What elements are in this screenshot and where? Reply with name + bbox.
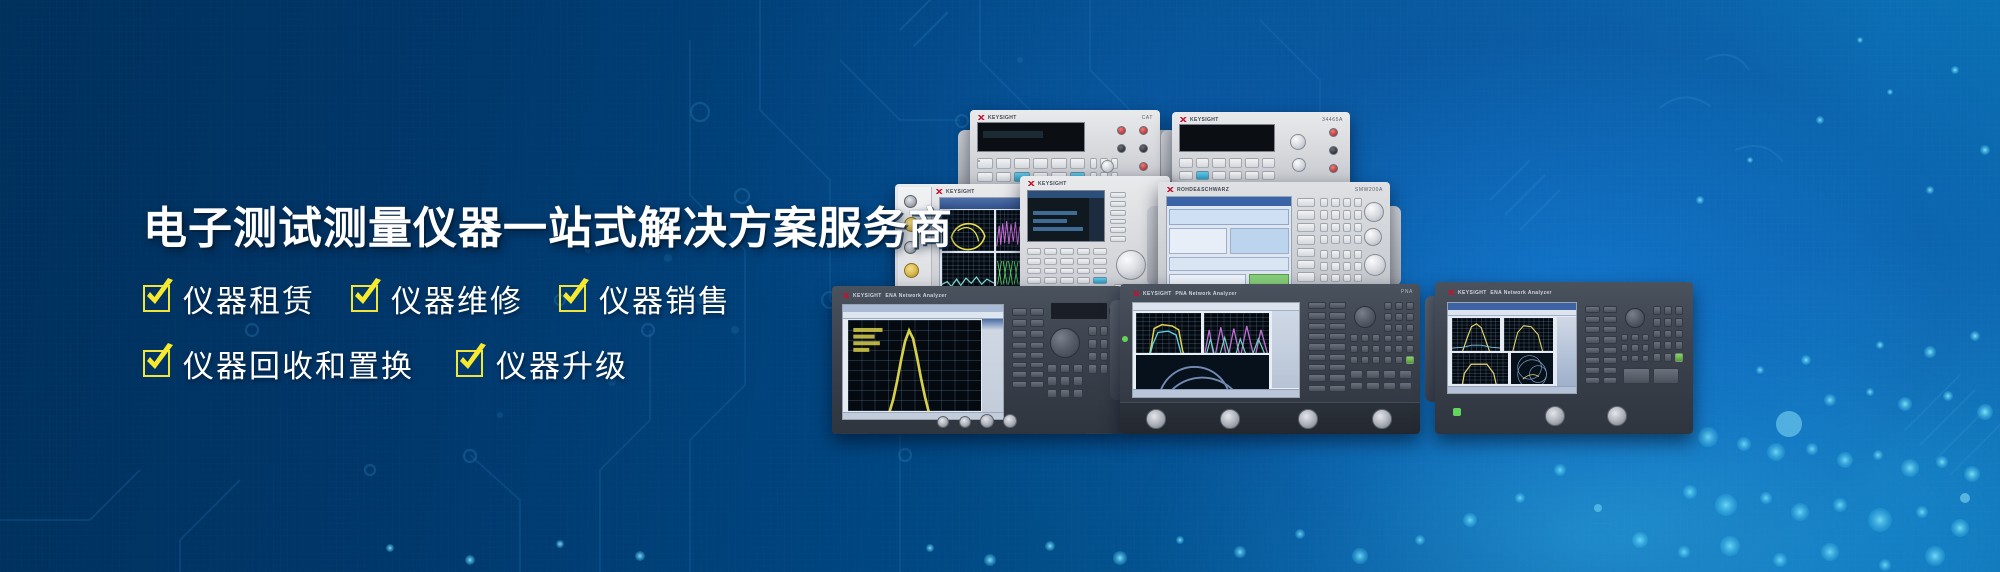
navigation-wheel	[1050, 328, 1080, 358]
numeric-keypad	[1384, 302, 1414, 364]
instrument-chassis: KEYSIGHT ENA Network Analyzer	[1435, 282, 1693, 434]
input-terminal	[1139, 162, 1148, 171]
instrument-display	[977, 122, 1085, 152]
test-port-4	[1003, 414, 1017, 428]
instrument-network-analyzer-pna-center: KEYSIGHT PNA Network Analyzer PNA	[1120, 284, 1420, 434]
feature-label: 仪器销售	[599, 276, 731, 321]
instrument-cluster: KEYSIGHT CAT	[820, 96, 2000, 516]
feature-item-instrument-sales[interactable]: 仪器销售	[559, 276, 731, 321]
utility-keypad	[1350, 370, 1412, 390]
model-label: SMW200A	[1355, 187, 1383, 193]
rotary-knob	[1116, 250, 1146, 280]
arrow-keypad	[1350, 334, 1380, 364]
instrument-digital-multimeter-right: KEYSIGHT 34465A	[1172, 112, 1350, 186]
promo-banner: KEYSIGHT CAT	[0, 0, 2000, 572]
rohde-schwarz-logo: ROHDE&SCHWARZ	[1166, 187, 1229, 193]
keysight-logo: KEYSIGHT	[1179, 117, 1219, 123]
input-terminal	[1329, 164, 1338, 173]
front-knob	[1290, 134, 1306, 150]
front-knob	[1101, 160, 1114, 173]
feature-label: 仪器回收和置换	[183, 341, 414, 386]
input-terminal	[1139, 144, 1148, 153]
instrument-chassis: KEYSIGHT 34465A	[1172, 112, 1350, 186]
arrow-keypad	[1047, 364, 1083, 398]
check-mark-icon	[142, 342, 176, 376]
arrow-keypad	[1621, 334, 1649, 362]
instrument-keypad	[1179, 158, 1275, 180]
front-knob	[1292, 158, 1306, 172]
check-mark-icon	[558, 277, 592, 311]
feature-list: 仪器租赁 仪器维修 仪器销售	[143, 276, 923, 386]
navigation-wheel	[1625, 308, 1645, 328]
input-terminal	[1329, 128, 1338, 137]
model-label: PNA	[1401, 289, 1413, 295]
port-panel	[1120, 402, 1420, 434]
trace-plot-a	[1136, 313, 1201, 352]
softkey-column	[1297, 198, 1315, 294]
feature-item-instrument-recycle-exchange[interactable]: 仪器回收和置换	[143, 341, 414, 386]
navigation-wheel	[1354, 306, 1376, 328]
numeric-keypad	[1653, 306, 1683, 362]
test-port-4	[1298, 409, 1318, 429]
keysight-logo: KEYSIGHT	[1027, 181, 1067, 187]
usb-keypad	[1623, 368, 1679, 384]
checkbox-checked-icon	[456, 350, 483, 377]
rotary-knob	[1364, 202, 1384, 222]
trace-plot-b	[1504, 318, 1553, 350]
keysight-logo: KEYSIGHT	[935, 189, 975, 195]
keysight-logo: KEYSIGHT	[977, 115, 1017, 121]
instrument-chassis: KEYSIGHT PNA Network Analyzer PNA	[1120, 284, 1420, 434]
test-port-3	[980, 414, 994, 428]
model-label: CAT	[1142, 115, 1153, 121]
test-port-2	[1607, 406, 1627, 426]
feature-label: 仪器租赁	[183, 276, 315, 321]
page-title: 电子测试测量仪器一站式解决方案服务商	[143, 203, 923, 254]
instrument-display	[1027, 190, 1105, 242]
test-port-1	[1146, 409, 1166, 429]
checkbox-checked-icon	[559, 285, 586, 312]
feature-row-1: 仪器租赁 仪器维修 仪器销售	[143, 276, 923, 321]
check-mark-icon	[142, 277, 176, 311]
test-port-2	[1372, 409, 1392, 429]
status-display	[1050, 302, 1108, 320]
checkbox-checked-icon	[351, 285, 378, 312]
test-port-2	[959, 416, 971, 428]
navigation-wheel	[1364, 254, 1386, 276]
power-led	[1122, 336, 1128, 342]
power-led	[1453, 408, 1461, 416]
test-port-3	[1220, 409, 1240, 429]
trace-plot-a	[1452, 318, 1501, 350]
function-keypad	[1012, 342, 1044, 388]
smith-chart	[1136, 355, 1269, 391]
banner-copy: 电子测试测量仪器一站式解决方案服务商 仪器租赁	[143, 203, 923, 386]
function-keypad	[1308, 302, 1346, 392]
trace-plot-c	[1452, 353, 1508, 384]
chassis-foot	[842, 433, 868, 434]
feature-item-instrument-rental[interactable]: 仪器租赁	[143, 276, 315, 321]
test-port-1	[937, 416, 949, 428]
feature-row-2: 仪器回收和置换 仪器升级	[143, 341, 923, 386]
feature-item-instrument-upgrade[interactable]: 仪器升级	[456, 341, 628, 386]
test-port-1	[1545, 406, 1565, 426]
check-mark-icon	[350, 277, 384, 311]
instrument-display	[1132, 302, 1300, 398]
feature-item-instrument-repair[interactable]: 仪器维修	[351, 276, 523, 321]
channel-keypad	[1012, 308, 1044, 338]
power-knob	[978, 160, 980, 162]
instrument-display	[1166, 196, 1292, 298]
model-label: 34465A	[1322, 117, 1343, 123]
instrument-network-analyzer-ena-right: KEYSIGHT ENA Network Analyzer	[1435, 282, 1693, 434]
chassis-foot	[1086, 433, 1112, 434]
feature-label: 仪器升级	[496, 341, 628, 386]
input-terminal	[1139, 126, 1148, 135]
softkey-column	[1110, 192, 1126, 242]
keysight-logo: KEYSIGHT PNA Network Analyzer	[1132, 291, 1237, 297]
input-terminal	[1329, 146, 1338, 155]
instrument-display	[1179, 124, 1275, 152]
trace-plot-b	[1204, 313, 1269, 352]
keysight-logo: KEYSIGHT ENA Network Analyzer	[1447, 290, 1552, 296]
input-terminal	[1117, 126, 1126, 135]
rotary-knob	[1364, 228, 1382, 246]
function-keypad	[1585, 306, 1617, 384]
checkbox-checked-icon	[143, 350, 170, 377]
checkbox-checked-icon	[143, 285, 170, 312]
feature-label: 仪器维修	[391, 276, 523, 321]
smith-chart	[1511, 353, 1553, 384]
input-terminal	[1117, 144, 1126, 153]
check-mark-icon	[455, 342, 489, 376]
instrument-display	[1447, 302, 1577, 394]
function-keypad	[1320, 198, 1362, 244]
